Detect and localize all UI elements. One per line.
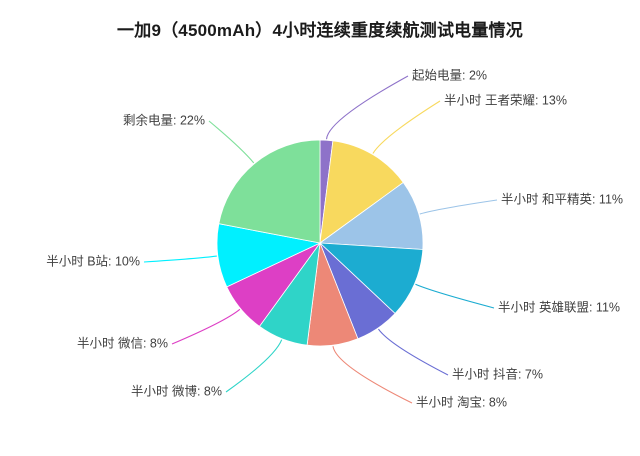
pie-label-weixin: 半小时 微信: 8%: [77, 336, 168, 350]
leader-line-weixin: [172, 309, 240, 344]
leader-line-wangzherongyao: [373, 101, 440, 153]
leader-line-hepingjingying: [420, 200, 497, 214]
pie-chart-figure: 一加9（4500mAh）4小时连续重度续航测试电量情况: [0, 0, 640, 456]
pie-slices: [217, 140, 423, 346]
pie-label-weibo: 半小时 微博: 8%: [131, 383, 222, 398]
pie-label-douyin: 半小时 抖音: 7%: [452, 366, 543, 381]
leader-line-qishidianliang: [327, 76, 408, 139]
leader-line-taobao: [333, 346, 412, 403]
pie-label-taobao: 半小时 淘宝: 8%: [416, 395, 507, 409]
pie-label-qishidianliang: 起始电量: 2%: [412, 68, 487, 82]
pie-chart-svg: 起始电量: 2% 半小时 王者荣耀: 13% 半小时 和平精英: 11% 半小时…: [0, 0, 640, 456]
leader-line-douyin: [378, 329, 448, 375]
pie-label-shengyudianliang: 剩余电量: 22%: [123, 112, 205, 127]
leader-line-bzhan: [144, 256, 217, 262]
leader-line-shengyudianliang: [209, 121, 254, 163]
pie-label-wangzherongyao: 半小时 王者荣耀: 13%: [444, 93, 567, 107]
leader-line-weibo: [226, 340, 282, 392]
leader-line-yingxionglianmeng: [415, 284, 494, 308]
pie-label-yingxionglianmeng: 半小时 英雄联盟: 11%: [498, 299, 620, 314]
pie-label-hepingjingying: 半小时 和平精英: 11%: [501, 192, 623, 206]
pie-label-bzhan: 半小时 B站: 10%: [46, 254, 140, 268]
